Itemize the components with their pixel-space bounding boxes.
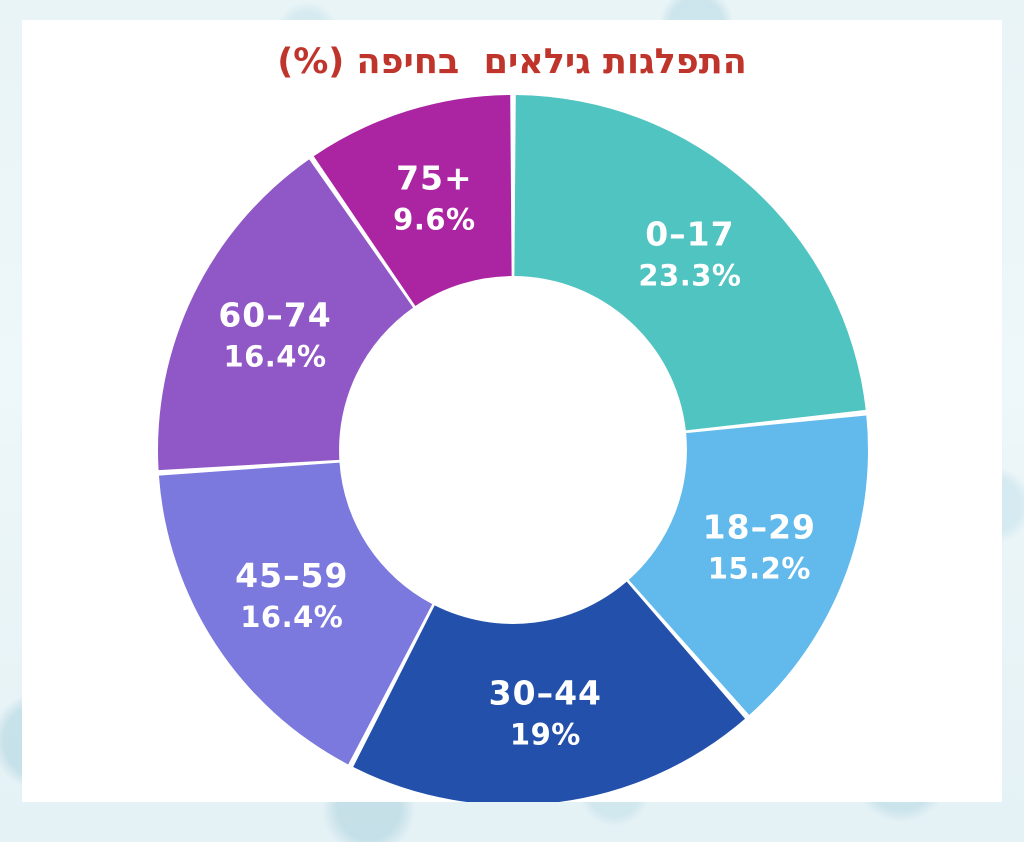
chart-card: התפלגות גילאים בחיפה (%) 0–1723.3%18–291… [22,20,1002,802]
donut-chart-svg: 0–1723.3%18–2915.2%30–4419%45–5916.4%60–… [22,20,1002,802]
poster-frame: התפלגות גילאים בחיפה (%) 0–1723.3%18–291… [0,0,1024,842]
donut-chart: 0–1723.3%18–2915.2%30–4419%45–5916.4%60–… [22,20,1002,802]
donut-slice[interactable] [514,95,865,430]
donut-slices [158,95,868,802]
